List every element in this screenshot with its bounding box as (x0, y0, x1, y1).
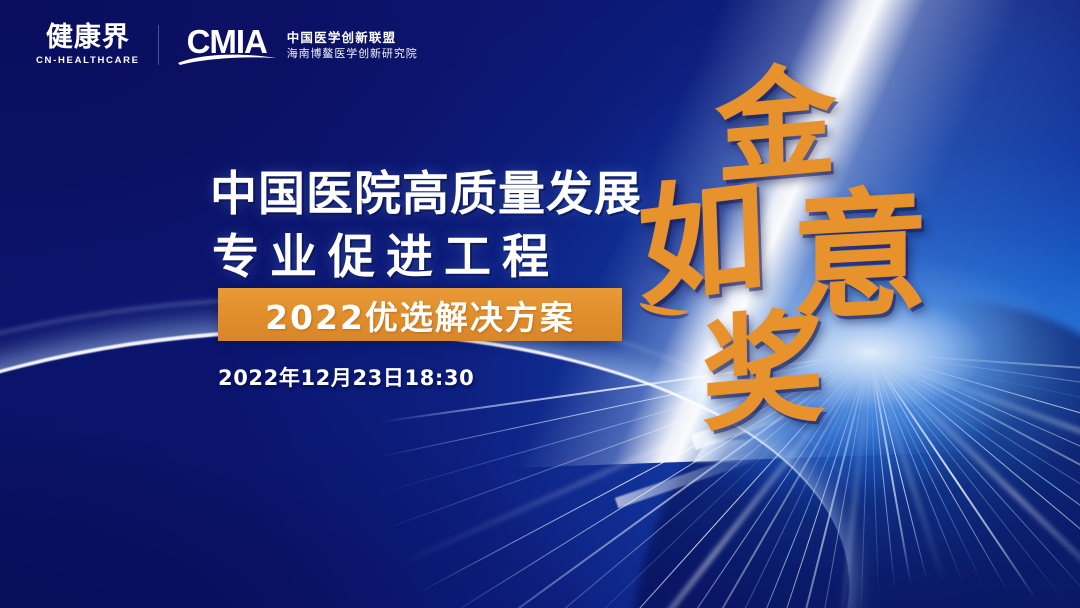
event-datetime: 2022年12月23日18:30 (218, 362, 474, 392)
logo-cn-healthcare: 健康界 CN-HEALTHCARE (36, 24, 140, 66)
event-poster: 健康界 CN-HEALTHCARE CMIA 中国医学创新联盟 海南博鳌医学创新… (0, 0, 1080, 608)
headline: 中国医院高质量发展 专业促进工程 (210, 164, 642, 290)
logo-cmia: CMIA 中国医学创新联盟 海南博鳌医学创新研究院 (177, 25, 418, 66)
logo-divider (158, 25, 159, 65)
swoosh-icon (177, 52, 277, 66)
logo-cmia-line1: 中国医学创新联盟 (287, 31, 418, 45)
logo-cmia-text: 中国医学创新联盟 海南博鳌医学创新研究院 (287, 31, 418, 60)
solution-badge: 2022优选解决方案 (218, 288, 622, 341)
calligraphy-char-ru: 如 (636, 170, 768, 314)
calligraphy-char-jiang: 奖 (701, 305, 825, 438)
logo-cn-healthcare-latin: CN-HEALTHCARE (36, 55, 140, 66)
logo-cmia-line2: 海南博鳌医学创新研究院 (287, 48, 418, 60)
logo-bar: 健康界 CN-HEALTHCARE CMIA 中国医学创新联盟 海南博鳌医学创新… (36, 24, 418, 66)
logo-cmia-mark: CMIA (177, 25, 277, 66)
award-calligraphy: 金 如 意 奖 (620, 60, 1020, 410)
solution-badge-label: 2022优选解决方案 (265, 291, 575, 339)
headline-line-2: 专业促进工程 (210, 227, 642, 290)
headline-line-1: 中国医院高质量发展 (210, 164, 642, 227)
poster-content: 健康界 CN-HEALTHCARE CMIA 中国医学创新联盟 海南博鳌医学创新… (0, 0, 1080, 608)
logo-cn-healthcare-cjk: 健康界 (46, 24, 130, 52)
